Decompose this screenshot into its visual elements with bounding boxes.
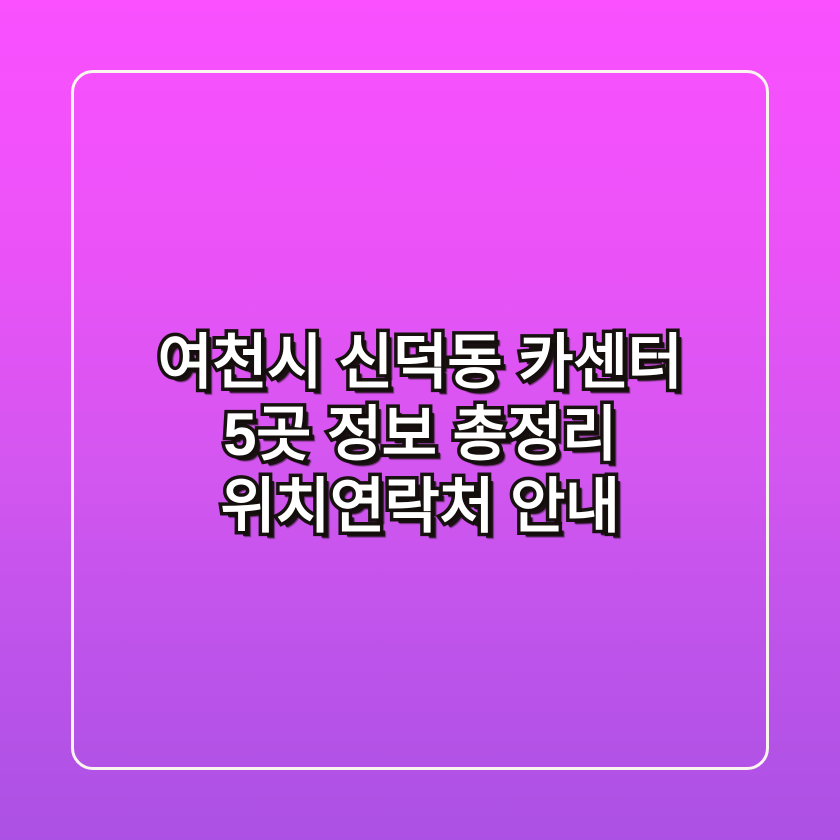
headline-line-3: 위치연락처 안내 [0,471,840,543]
headline-line-2: 5곳 정보 총정리 [0,399,840,471]
headline-text-block: 여천시 신덕동 카센터 5곳 정보 총정리 위치연락처 안내 [0,327,840,543]
poster-canvas: 여천시 신덕동 카센터 5곳 정보 총정리 위치연락처 안내 [0,0,840,840]
headline-line-1: 여천시 신덕동 카센터 [0,327,840,399]
